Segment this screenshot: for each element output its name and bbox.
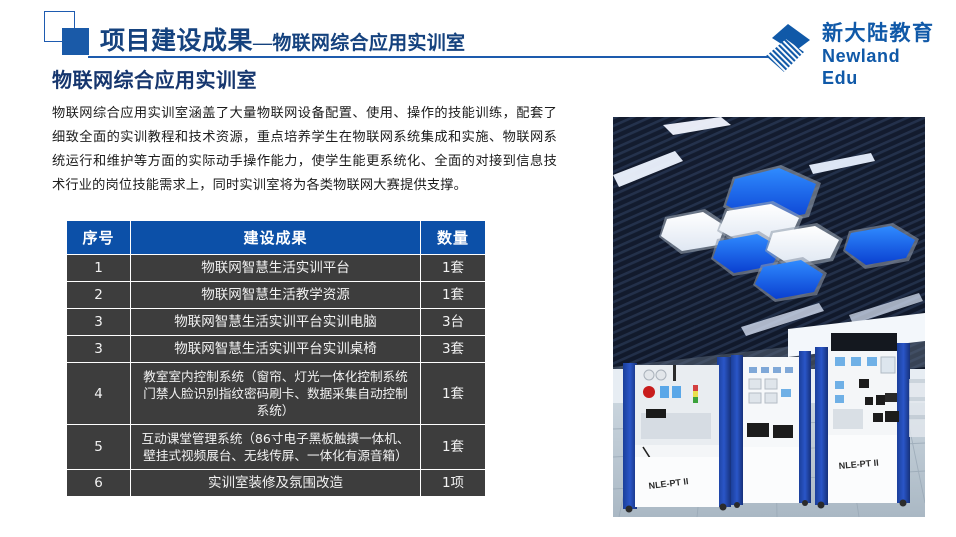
- brand-logo: 新大陆教育 Newland Edu: [760, 20, 940, 76]
- cell-no: 6: [67, 470, 131, 497]
- cell-item: 物联网智慧生活教学资源: [131, 282, 421, 309]
- page-title-sub: —物联网综合应用实训室: [253, 33, 465, 54]
- decorative-square-solid: [62, 28, 89, 55]
- table-row: 6 实训室装修及氛围改造 1项: [67, 470, 486, 497]
- results-table-body: 1 物联网智慧生活实训平台 1套 2 物联网智慧生活教学资源 1套 3 物联网智…: [67, 255, 486, 497]
- cell-qty: 1套: [421, 255, 486, 282]
- section-subheading: 物联网综合应用实训室: [52, 64, 257, 93]
- cell-no: 2: [67, 282, 131, 309]
- brand-name-cn: 新大陆教育: [822, 21, 940, 45]
- header-divider-line: [88, 56, 768, 58]
- cell-qty: 1套: [421, 282, 486, 309]
- table-row: 2 物联网智慧生活教学资源 1套: [67, 282, 486, 309]
- cell-qty: 1套: [421, 425, 486, 470]
- lab-photo: NLE-PT II: [613, 117, 925, 517]
- page-title-main: 项目建设成果: [100, 28, 253, 55]
- cell-item: 物联网智慧生活实训平台: [131, 255, 421, 282]
- table-row: 4 教室室内控制系统（窗帘、灯光一体化控制系统门禁人脸识别指纹密码刷卡、数据采集…: [67, 363, 486, 425]
- cell-no: 3: [67, 336, 131, 363]
- cell-no: 3: [67, 309, 131, 336]
- cell-no: 5: [67, 425, 131, 470]
- column-header-item: 建设成果: [131, 221, 421, 255]
- results-table-container: 序号 建设成果 数量 1 物联网智慧生活实训平台 1套 2 物联网智慧生活教学资…: [66, 220, 485, 497]
- table-row: 3 物联网智慧生活实训平台实训桌椅 3套: [67, 336, 486, 363]
- brand-name-en: Newland Edu: [822, 45, 940, 89]
- column-header-qty: 数量: [421, 221, 486, 255]
- cell-item: 实训室装修及氛围改造: [131, 470, 421, 497]
- cell-item: 互动课堂管理系统（86寸电子黑板触摸一体机、壁挂式视频展台、无线传屏、一体化有源…: [131, 425, 421, 470]
- table-row: 5 互动课堂管理系统（86寸电子黑板触摸一体机、壁挂式视频展台、无线传屏、一体化…: [67, 425, 486, 470]
- results-table: 序号 建设成果 数量 1 物联网智慧生活实训平台 1套 2 物联网智慧生活教学资…: [66, 220, 486, 497]
- cell-qty: 1套: [421, 363, 486, 425]
- table-row: 3 物联网智慧生活实训平台实训电脑 3台: [67, 309, 486, 336]
- cell-item: 物联网智慧生活实训平台实训桌椅: [131, 336, 421, 363]
- brand-logo-text: 新大陆教育 Newland Edu: [822, 21, 940, 89]
- cell-qty: 3台: [421, 309, 486, 336]
- cell-item: 物联网智慧生活实训平台实训电脑: [131, 309, 421, 336]
- page-title: 项目建设成果—物联网综合应用实训室: [100, 21, 465, 57]
- cell-no: 4: [67, 363, 131, 425]
- section-paragraph: 物联网综合应用实训室涵盖了大量物联网设备配置、使用、操作的技能训练，配套了细致全…: [52, 102, 557, 198]
- cell-item: 教室室内控制系统（窗帘、灯光一体化控制系统门禁人脸识别指纹密码刷卡、数据采集自动…: [131, 363, 421, 425]
- slide-root: 项目建设成果—物联网综合应用实训室 新大陆教育 Newland Edu: [0, 0, 956, 537]
- table-header-row: 序号 建设成果 数量: [67, 221, 486, 255]
- column-header-no: 序号: [67, 221, 131, 255]
- cell-qty: 1项: [421, 470, 486, 497]
- newland-diamond-logo-icon: [760, 22, 816, 74]
- cell-qty: 3套: [421, 336, 486, 363]
- cell-no: 1: [67, 255, 131, 282]
- table-row: 1 物联网智慧生活实训平台 1套: [67, 255, 486, 282]
